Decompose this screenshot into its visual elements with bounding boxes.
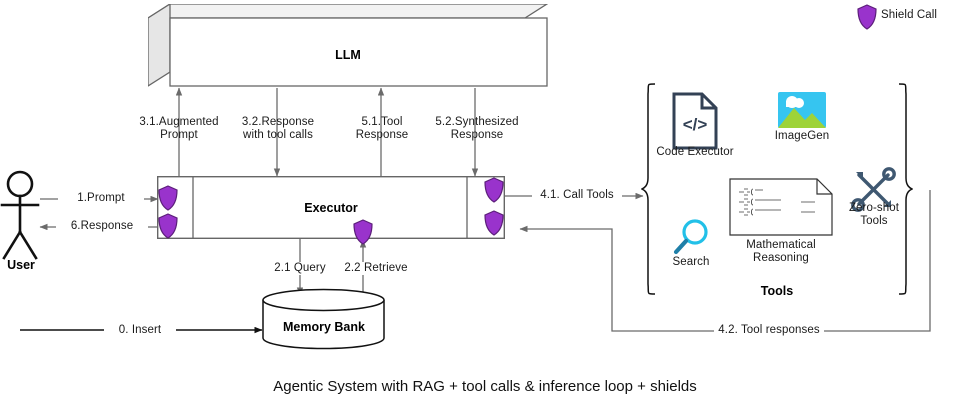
edge-label-insert: 0. Insert	[104, 324, 176, 337]
diagram-caption: Agentic System with RAG + tool calls & i…	[0, 378, 970, 395]
edge-label-call-tools: 4.1. Call Tools	[532, 189, 622, 202]
shield-icon	[484, 210, 504, 236]
code-document-icon[interactable]: </>	[672, 92, 718, 150]
image-picture-icon[interactable]	[778, 92, 826, 128]
shield-icon	[158, 213, 178, 239]
tool-label-code-executor: Code Executor	[637, 146, 753, 159]
llm-label: LLM	[148, 48, 548, 62]
shield-icon	[158, 185, 178, 211]
llm-node[interactable]	[148, 4, 548, 90]
svg-text:</>: </>	[683, 115, 708, 134]
edge-label-response: 6.Response	[56, 220, 148, 233]
shield-icon	[353, 219, 373, 245]
edge-label-retrieve: 2.2 Retrieve	[334, 262, 418, 275]
diagram-canvas: LLM Executor Memory Bank Tools </> Code …	[0, 0, 970, 411]
memory-bank-label: Memory Bank	[262, 320, 386, 334]
tool-label-search: Search	[650, 256, 732, 269]
tool-label-imagegen: ImageGen	[752, 130, 852, 143]
edge-label-prompt: 1.Prompt	[58, 192, 144, 205]
tool-label-mathematical-reasoning: Mathematical Reasoning	[717, 239, 845, 265]
edge-label-augmented-prompt: 3.1.Augmented Prompt	[138, 116, 220, 142]
legend-label-shield-call: Shield Call	[881, 9, 965, 22]
user-label: User	[0, 258, 42, 272]
memory-bank-node[interactable]	[262, 288, 386, 350]
edge-label-tool-response: 5.1.Tool Response	[344, 116, 420, 142]
edge-label-query: 2.1 Query	[263, 262, 337, 275]
math-document-icon[interactable]	[729, 178, 833, 236]
tools-panel-label: Tools	[641, 284, 913, 298]
executor-label: Executor	[157, 201, 505, 215]
edge-label-synthesized-response: 5.2.Synthesized Response	[430, 116, 524, 142]
edge-label-tool-responses: 4.2. Tool responses	[714, 324, 824, 337]
shield-icon	[484, 177, 504, 203]
edge-label-response-tool-calls: 3.2.Response with tool calls	[234, 116, 322, 142]
shield-icon	[857, 4, 877, 30]
magnifier-icon[interactable]	[673, 218, 711, 256]
tool-label-zero-shot-tools: Zero-shot Tools	[838, 202, 910, 228]
